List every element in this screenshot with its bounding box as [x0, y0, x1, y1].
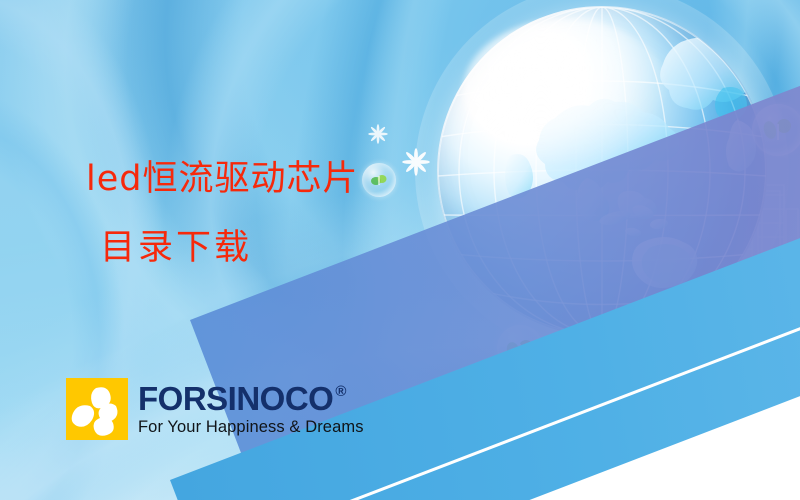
- brand-text: FORSINOCO ® For Your Happiness & Dreams: [138, 378, 364, 437]
- brand-tagline: For Your Happiness & Dreams: [138, 418, 364, 437]
- slide-headline: led恒流驱动芯片 目录下载: [86, 162, 358, 266]
- bubble-with-sprout-icon: [362, 163, 396, 197]
- registered-mark-icon: ®: [335, 384, 346, 399]
- flower-sparkle-icon: [402, 148, 430, 176]
- brand-name: FORSINOCO: [138, 382, 333, 415]
- flower-sparkle-icon: [368, 124, 388, 144]
- four-petal-pinwheel-icon: [66, 378, 128, 440]
- slide-canvas: led恒流驱动芯片 目录下载 FORSINOCO ® For Your Happ…: [0, 0, 800, 500]
- headline-line-1: led恒流驱动芯片: [86, 162, 358, 197]
- brand-wordmark: FORSINOCO ®: [138, 382, 364, 415]
- brand-logo: FORSINOCO ® For Your Happiness & Dreams: [66, 378, 364, 440]
- headline-line-2: 目录下载: [100, 231, 358, 266]
